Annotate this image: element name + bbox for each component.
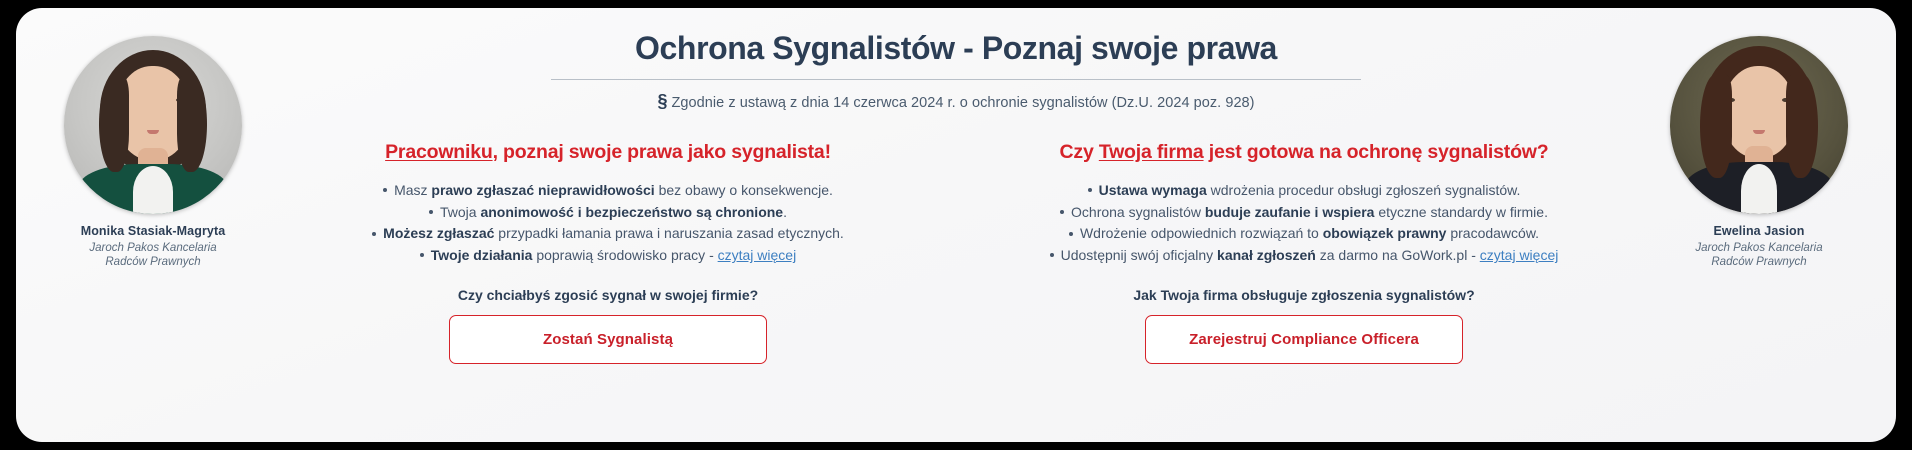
bullet-post: bez obawy o konsekwencje. — [655, 182, 833, 198]
left-person-firm: Jaroch Pakos Kancelaria Radców Prawnych — [38, 241, 268, 270]
left-person-name: Monika Stasiak-Magryta — [38, 224, 268, 238]
right-person-firm-line2: Radców Prawnych — [1711, 256, 1806, 268]
columns-wrapper: Pracowniku, poznaj swoje prawa jako sygn… — [271, 141, 1641, 364]
bullet-pre: Masz — [394, 182, 431, 198]
bullet-bold: Twoje działania — [431, 247, 533, 263]
company-heading-pre: Czy — [1060, 141, 1099, 163]
list-item: Masz prawo zgłaszać nieprawidłowości bez… — [271, 180, 945, 202]
bullet-bold: obowiązek prawny — [1323, 225, 1447, 241]
title-divider — [551, 79, 1361, 80]
bullet-post: przypadki łamania prawa i naruszania zas… — [494, 225, 843, 241]
left-person-block: Monika Stasiak-Magryta Jaroch Pakos Kanc… — [38, 36, 268, 270]
bullet-pre: Udostępnij swój oficjalny — [1061, 247, 1217, 263]
read-more-link-right[interactable]: czytaj więcej — [1480, 247, 1559, 263]
column-company: Czy Twoja firma jest gotowa na ochronę s… — [967, 141, 1641, 364]
right-person-name: Ewelina Jasion — [1644, 224, 1874, 238]
company-bullet-list: Ustawa wymaga wdrożenia procedur obsługi… — [967, 180, 1641, 267]
left-person-firm-line1: Jaroch Pakos Kancelaria — [89, 242, 216, 254]
employee-heading: Pracowniku, poznaj swoje prawa jako sygn… — [271, 141, 945, 164]
bullet-icon — [1050, 253, 1054, 257]
bullet-post: wdrożenia procedur obsługi zgłoszeń sygn… — [1207, 182, 1521, 198]
employee-bullet-list: Masz prawo zgłaszać nieprawidłowości bez… — [271, 180, 945, 267]
bullet-bold: buduje zaufanie i wspiera — [1205, 204, 1375, 220]
column-employee: Pracowniku, poznaj swoje prawa jako sygn… — [271, 141, 945, 364]
bullet-icon — [383, 188, 387, 192]
promo-banner: Monika Stasiak-Magryta Jaroch Pakos Kanc… — [16, 8, 1896, 442]
company-heading-rest: jest gotowa na ochronę sygnalistów? — [1204, 141, 1549, 163]
bullet-post: . — [783, 204, 787, 220]
bullet-post: poprawią środowisko pracy - — [532, 247, 717, 263]
list-item: Udostępnij swój oficjalny kanał zgłoszeń… — [967, 245, 1641, 267]
banner-header: Ochrona Sygnalistów - Poznaj swoje prawa… — [276, 30, 1636, 112]
right-person-block: Ewelina Jasion Jaroch Pakos Kancelaria R… — [1644, 36, 1874, 270]
bullet-bold: kanał zgłoszeń — [1217, 247, 1316, 263]
list-item: Ochrona sygnalistów buduje zaufanie i ws… — [967, 202, 1641, 224]
list-item: Możesz zgłaszać przypadki łamania prawa … — [271, 223, 945, 245]
avatar-right — [1670, 36, 1848, 214]
bullet-icon — [1088, 188, 1092, 192]
legal-subtitle-text: Zgodnie z ustawą z dnia 14 czerwca 2024 … — [672, 95, 1255, 111]
read-more-link-left[interactable]: czytaj więcej — [718, 247, 797, 263]
list-item: Ustawa wymaga wdrożenia procedur obsługi… — [967, 180, 1641, 202]
company-heading-underlined: Twoja firma — [1099, 141, 1204, 163]
bullet-pre: Twoja — [440, 204, 480, 220]
list-item: Wdrożenie odpowiednich rozwiązań to obow… — [967, 223, 1641, 245]
bullet-icon — [420, 253, 424, 257]
paragraph-icon: § — [657, 91, 667, 111]
employee-heading-underlined: Pracowniku — [385, 141, 492, 163]
bullet-icon — [429, 210, 433, 214]
right-person-firm: Jaroch Pakos Kancelaria Radców Prawnych — [1644, 241, 1874, 270]
become-whistleblower-button[interactable]: Zostań Sygnalistą — [449, 315, 767, 364]
bullet-icon — [1060, 210, 1064, 214]
bullet-bold: prawo zgłaszać nieprawidłowości — [431, 182, 654, 198]
bullet-post: etyczne standardy w firmie. — [1374, 204, 1548, 220]
page-title: Ochrona Sygnalistów - Poznaj swoje prawa — [276, 30, 1636, 67]
employee-cta-prompt: Czy chciałbyś zgosić sygnał w swojej fir… — [271, 287, 945, 303]
legal-subtitle: §Zgodnie z ustawą z dnia 14 czerwca 2024… — [276, 91, 1636, 112]
employee-heading-rest: , poznaj swoje prawa jako sygnalista! — [493, 141, 831, 163]
avatar-left — [64, 36, 242, 214]
left-person-firm-line2: Radców Prawnych — [105, 256, 200, 268]
company-heading: Czy Twoja firma jest gotowa na ochronę s… — [967, 141, 1641, 164]
bullet-post: pracodawców. — [1446, 225, 1539, 241]
bullet-bold: anonimowość i bezpieczeństwo są chronion… — [480, 204, 783, 220]
bullet-pre: Ochrona sygnalistów — [1071, 204, 1205, 220]
list-item: Twoja anonimowość i bezpieczeństwo są ch… — [271, 202, 945, 224]
list-item: Twoje działania poprawią środowisko prac… — [271, 245, 945, 267]
bullet-icon — [372, 232, 376, 236]
bullet-bold: Możesz zgłaszać — [383, 225, 494, 241]
company-cta-prompt: Jak Twoja firma obsługuje zgłoszenia syg… — [967, 287, 1641, 303]
right-person-firm-line1: Jaroch Pakos Kancelaria — [1695, 242, 1822, 254]
register-compliance-officer-button[interactable]: Zarejestruj Compliance Officera — [1145, 315, 1463, 364]
bullet-post: za darmo na GoWork.pl - — [1316, 247, 1480, 263]
bullet-icon — [1069, 232, 1073, 236]
bullet-pre: Wdrożenie odpowiednich rozwiązań to — [1080, 225, 1323, 241]
bullet-bold: Ustawa wymaga — [1099, 182, 1207, 198]
